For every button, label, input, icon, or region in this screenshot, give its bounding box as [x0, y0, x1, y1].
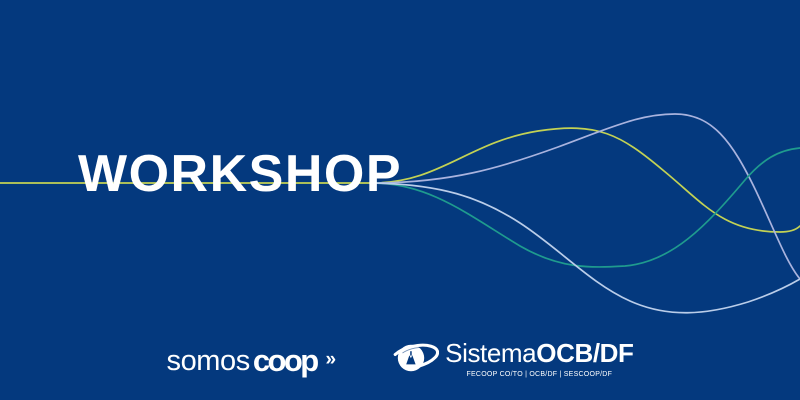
wave-line-lavender: [372, 114, 800, 279]
workshop-banner: WORKSHOP somoscoop » SistemaOCB/DF: [0, 0, 800, 400]
double-chevron-right-icon: »: [326, 349, 337, 371]
logo-bar: somoscoop » SistemaOCB/DF FECOOP CO/TO |…: [0, 338, 800, 378]
ocb-wordmark: SistemaOCB/DF: [445, 338, 633, 369]
ocb-sistema-text: Sistema: [445, 338, 536, 369]
ocb-acronym-text: OCB/DF: [536, 338, 633, 369]
somoscoop-light-text: somos: [166, 345, 249, 378]
ocb-tagline: FECOOP CO/TO | OCB/DF | SESCOOP/DF: [466, 371, 612, 378]
ocb-globe-tree-icon: [393, 341, 439, 375]
wave-line-pale-blue: [372, 183, 800, 313]
ocb-text-block: SistemaOCB/DF FECOOP CO/TO | OCB/DF | SE…: [445, 338, 633, 378]
wave-line-teal: [372, 148, 800, 267]
somoscoop-bold-text: coop: [253, 343, 317, 379]
somoscoop-logo: somoscoop »: [166, 344, 336, 378]
sistema-ocb-df-logo: SistemaOCB/DF FECOOP CO/TO | OCB/DF | SE…: [393, 338, 633, 378]
page-title: WORKSHOP: [78, 148, 402, 200]
